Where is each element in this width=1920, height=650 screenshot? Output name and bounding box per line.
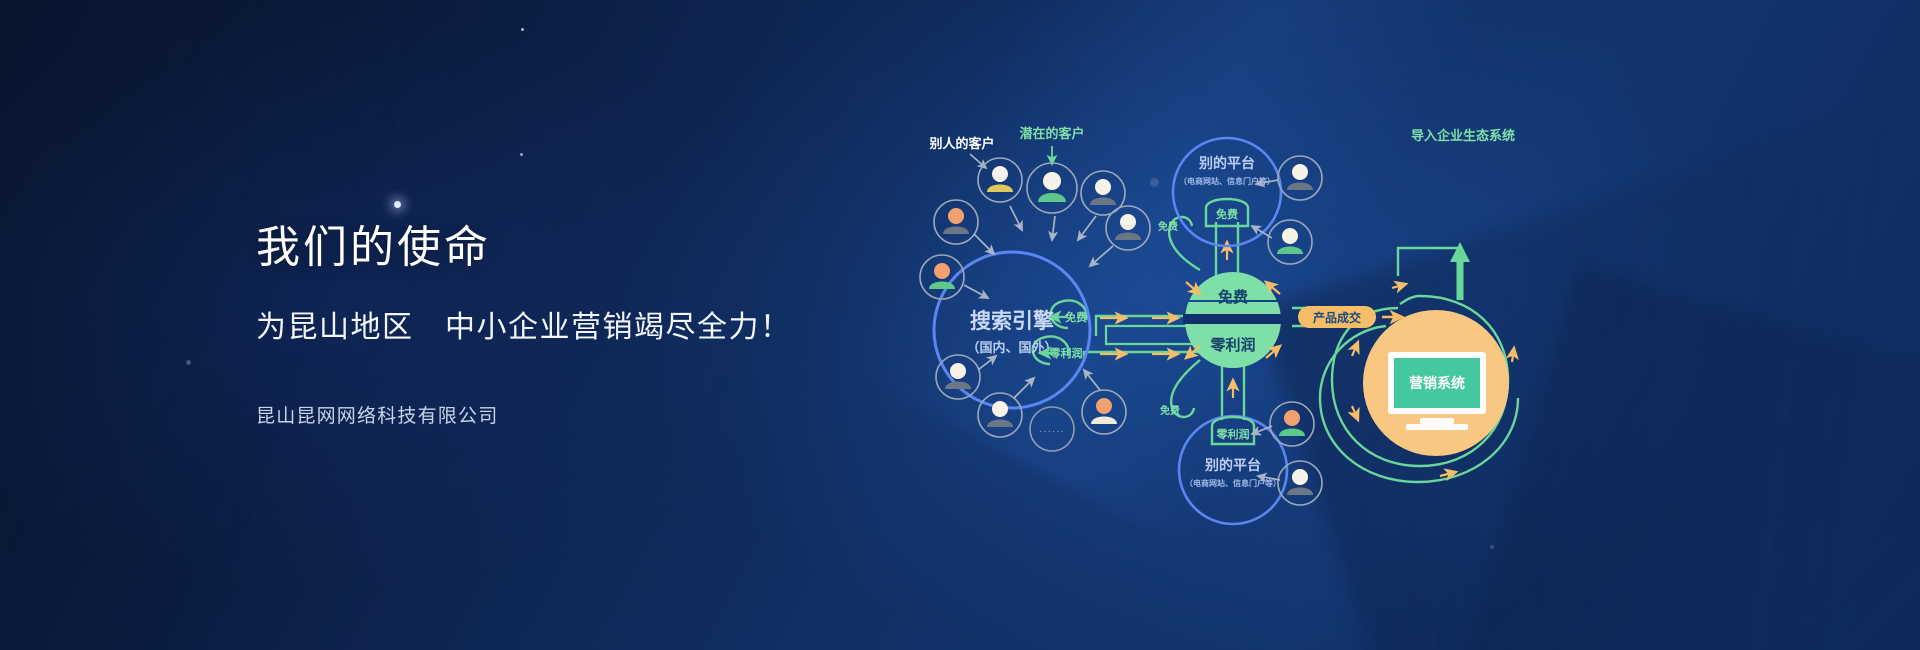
avatar[interactable] — [1082, 390, 1126, 434]
deal-badge[interactable]: 产品成交 — [1298, 306, 1376, 328]
marketing-system-label: 营销系统 — [1409, 375, 1465, 391]
label-import-ecosystem: 导入企业生态系统 — [1411, 128, 1515, 143]
avatar[interactable] — [978, 393, 1022, 437]
edge-label-free-lower: 免费 — [1160, 404, 1180, 417]
page-title: 我们的使命 — [256, 222, 976, 274]
node-marketing-system[interactable]: 营销系统 — [1363, 310, 1509, 456]
platform-bottom-subtitle: （电商网站、信息门户等） — [1185, 478, 1281, 488]
avatar[interactable] — [936, 355, 980, 399]
ellipsis-label: ······ — [1039, 426, 1065, 437]
deal-badge-label: 产品成交 — [1313, 310, 1361, 325]
avatar[interactable] — [978, 158, 1022, 202]
node-platform-top[interactable]: 别的平台 （电商网站、信息门户等） 免费 — [1173, 138, 1281, 246]
hub-label-free: 免费 — [1218, 288, 1248, 306]
mission-subtitle: 为昆山地区 中小企业营销竭尽全力！ — [256, 308, 976, 347]
particle-dot-2 — [520, 153, 523, 156]
avatar[interactable] — [1278, 156, 1322, 200]
mission-copy: 我们的使命 为昆山地区 中小企业营销竭尽全力！ 昆山昆网网络科技有限公司 — [256, 222, 976, 428]
hub-label-zero-profit: 零利润 — [1209, 336, 1255, 354]
particle-dot-1 — [521, 28, 524, 31]
label-others-customers: 别人的客户 — [928, 136, 994, 151]
label-potential-customers: 潜在的客户 — [1019, 126, 1084, 141]
platform-top-title: 别的平台 — [1198, 155, 1255, 171]
platform-bottom-title: 别的平台 — [1204, 457, 1261, 473]
avatar-ellipsis[interactable]: ······ — [1030, 407, 1074, 451]
avatar[interactable] — [1027, 163, 1077, 213]
ecosystem-arrow — [1450, 242, 1470, 300]
edge-label-free-search: 免费 — [1065, 310, 1087, 324]
edge-label-free-upper: 免费 — [1158, 220, 1178, 233]
particle-dot-7 — [1490, 545, 1494, 549]
hero-banner: 我们的使命 为昆山地区 中小企业营销竭尽全力！ 昆山昆网网络科技有限公司 — [0, 0, 1920, 650]
platform-top-subtitle: （电商网站、信息门户等） — [1179, 176, 1275, 186]
company-name: 昆山昆网网络科技有限公司 — [256, 401, 976, 428]
edge-label-free-top: 免费 — [1216, 207, 1238, 221]
particle-dot-3 — [394, 201, 401, 208]
avatar[interactable] — [1268, 220, 1312, 264]
avatar[interactable] — [934, 200, 978, 244]
avatar[interactable] — [1270, 402, 1314, 446]
node-hub[interactable]: 免费 零利润 — [1183, 272, 1283, 368]
edge-label-zero-profit-bottom: 零利润 — [1216, 427, 1250, 441]
particle-dot-4 — [186, 360, 191, 365]
avatar[interactable] — [1106, 206, 1150, 250]
marketing-ecosystem-diagram: 搜索引擎 （国内、国外） 别的平台 （电商网站、信息门户等） 免费 零利润 别的… — [900, 130, 1520, 530]
search-engine-title: 搜索引擎 — [970, 309, 1054, 333]
